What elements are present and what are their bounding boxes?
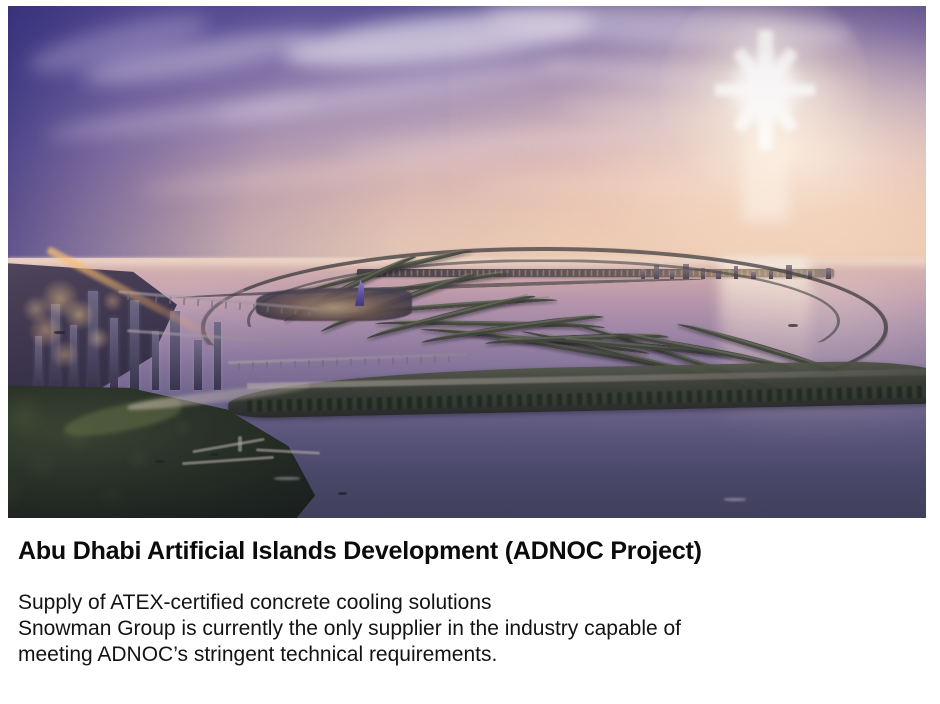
boat-wake bbox=[274, 477, 300, 480]
description-line: Snowman Group is currently the only supp… bbox=[18, 616, 918, 642]
island-layer bbox=[8, 6, 926, 518]
page-title: Abu Dhabi Artificial Islands Development… bbox=[18, 534, 918, 568]
description-line: Supply of ATEX-certified concrete coolin… bbox=[18, 590, 918, 616]
marina-pier bbox=[238, 436, 242, 452]
caption-block: Abu Dhabi Artificial Islands Development… bbox=[18, 534, 918, 668]
slide: Abu Dhabi Artificial Islands Development… bbox=[0, 0, 940, 704]
boat bbox=[338, 492, 347, 495]
description-paragraph: Supply of ATEX-certified concrete coolin… bbox=[18, 568, 918, 668]
hero-image bbox=[8, 6, 926, 518]
boat bbox=[155, 460, 165, 463]
boat bbox=[54, 331, 65, 334]
boat-wake bbox=[724, 498, 746, 501]
description-line: meeting ADNOC’s stringent technical requ… bbox=[18, 642, 918, 668]
